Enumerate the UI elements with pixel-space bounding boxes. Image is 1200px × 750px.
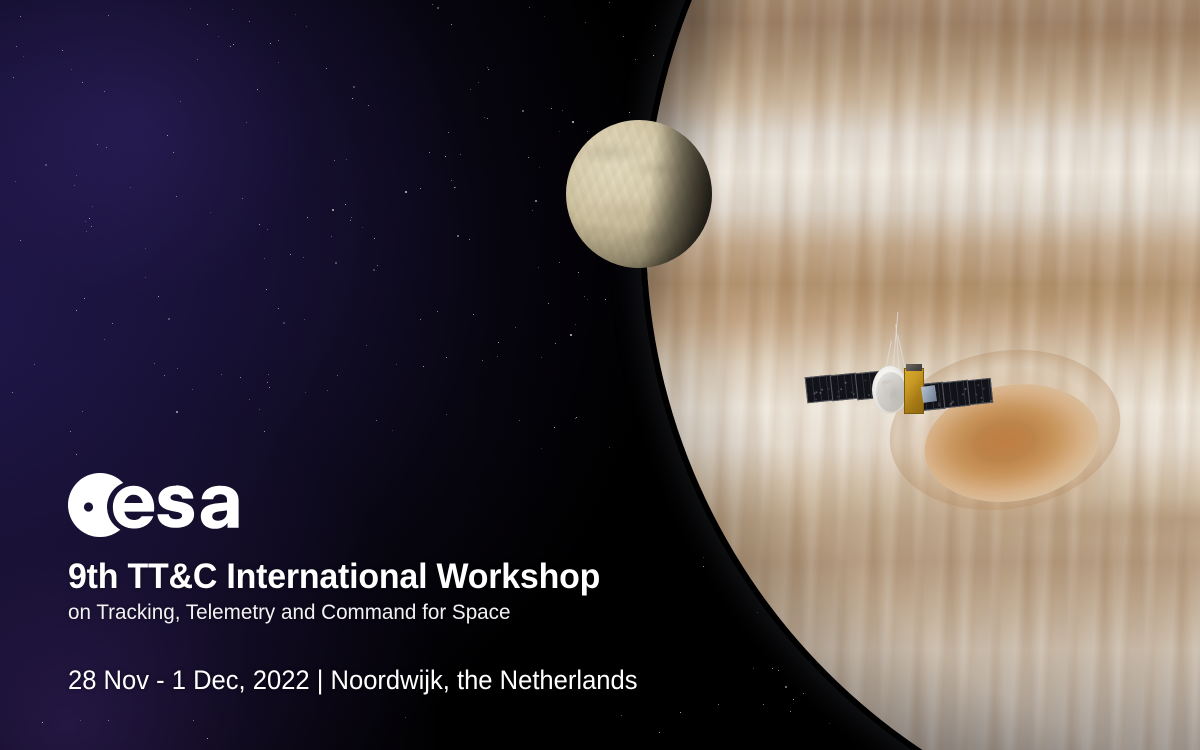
star (218, 36, 219, 37)
star (482, 360, 483, 361)
star (76, 454, 77, 455)
star (176, 196, 177, 197)
star (541, 448, 542, 449)
solar-cell-speck (821, 388, 823, 390)
star (423, 366, 424, 367)
star (515, 327, 516, 328)
star (71, 69, 72, 70)
star (535, 200, 537, 202)
star (555, 343, 556, 344)
event-poster: 9th TT&C International Workshop on Track… (0, 0, 1200, 750)
solar-cell-speck (837, 396, 839, 398)
star (89, 218, 90, 219)
star (551, 108, 552, 109)
star (366, 345, 367, 346)
star (655, 25, 656, 26)
star (605, 299, 606, 300)
star (304, 319, 305, 320)
star (829, 723, 830, 724)
solar-cell-speck (990, 400, 992, 402)
star (377, 265, 378, 266)
star (269, 387, 270, 388)
star (145, 277, 146, 278)
star (233, 44, 234, 45)
page-subtitle: on Tracking, Telemetry and Command for S… (68, 598, 740, 626)
star (793, 699, 794, 700)
star (562, 110, 563, 111)
solar-panel-left-mid (830, 373, 859, 402)
star (177, 368, 178, 369)
star (470, 89, 471, 90)
spacecraft-bus-top (906, 364, 922, 371)
event-text-block: 9th TT&C International Workshop on Track… (68, 556, 768, 626)
star (180, 101, 181, 102)
star (469, 239, 470, 240)
star (295, 14, 296, 15)
star (221, 374, 222, 375)
star (190, 8, 191, 9)
star (528, 157, 529, 158)
star (446, 414, 447, 415)
star (559, 131, 560, 132)
star (278, 62, 279, 63)
star (270, 43, 271, 44)
star (97, 144, 98, 145)
star (420, 319, 421, 320)
star (522, 110, 524, 112)
juice-spacecraft (806, 310, 992, 438)
solar-cell-speck (819, 392, 821, 394)
star (539, 167, 540, 168)
star (34, 364, 35, 365)
star (283, 322, 285, 324)
antenna-dish-shading (876, 372, 906, 412)
star (130, 187, 131, 188)
star (498, 342, 499, 343)
star (249, 21, 250, 22)
star (529, 7, 530, 8)
star (80, 720, 81, 721)
star (20, 240, 21, 241)
star (346, 159, 347, 160)
star (290, 254, 291, 255)
star (84, 298, 85, 299)
star (396, 364, 397, 365)
star (331, 236, 332, 237)
star (575, 324, 576, 325)
star (352, 98, 353, 99)
star (374, 238, 375, 239)
star (585, 22, 586, 23)
star (432, 4, 433, 5)
star (538, 267, 539, 268)
star (267, 229, 268, 230)
star (753, 668, 754, 669)
star (92, 206, 93, 207)
esa-wordmark (113, 485, 239, 528)
solar-cell-speck (865, 379, 867, 381)
solar-cell-speck (840, 389, 842, 391)
star (91, 226, 92, 227)
star (778, 670, 779, 671)
star (82, 82, 83, 83)
star (373, 269, 375, 271)
star (334, 160, 335, 161)
solar-cell-speck (815, 398, 817, 400)
star (473, 314, 474, 315)
star (242, 198, 243, 199)
star (23, 56, 24, 57)
star (368, 105, 369, 106)
star (104, 91, 105, 92)
star (232, 9, 233, 10)
solar-cell-speck (977, 384, 979, 386)
star (249, 399, 250, 400)
star (82, 411, 83, 412)
star (446, 357, 447, 358)
star (264, 431, 265, 432)
star (445, 156, 446, 157)
star (455, 187, 456, 188)
star (587, 299, 588, 300)
star (13, 77, 14, 78)
star (376, 420, 377, 421)
star (575, 418, 576, 419)
solar-cell-speck (938, 404, 940, 406)
solar-cell-speck (868, 394, 870, 396)
star (772, 668, 773, 669)
star (405, 717, 406, 718)
star (246, 122, 247, 123)
star (85, 221, 86, 222)
star (192, 389, 193, 390)
star (12, 392, 13, 393)
star (544, 16, 545, 17)
star (659, 732, 660, 733)
star (158, 296, 159, 297)
star (621, 715, 622, 716)
star (609, 447, 610, 448)
star (451, 180, 452, 181)
star (803, 693, 804, 694)
star (405, 191, 407, 193)
star (108, 15, 109, 16)
star (532, 210, 533, 211)
star (541, 357, 542, 358)
star (327, 390, 328, 391)
page-title: 9th TT&C International Workshop (68, 556, 737, 596)
solar-cell-speck (980, 397, 982, 399)
solar-cell-speck (851, 391, 853, 393)
solar-panel-right-outer (967, 378, 993, 405)
star (278, 308, 279, 309)
star (266, 289, 267, 290)
star (230, 46, 231, 47)
star (576, 417, 577, 418)
solar-panel-right-mid (942, 380, 971, 409)
star (345, 204, 346, 205)
star (164, 375, 165, 376)
star (653, 55, 654, 56)
star (487, 67, 488, 68)
star (351, 217, 352, 218)
star (429, 152, 430, 153)
star (176, 411, 178, 413)
star (45, 164, 47, 166)
star (335, 262, 337, 264)
star (437, 7, 439, 9)
star (173, 152, 174, 153)
star (108, 720, 109, 721)
solar-cell-speck (981, 400, 983, 402)
star (70, 431, 71, 432)
star (487, 118, 488, 119)
star (268, 374, 269, 375)
star (437, 311, 438, 312)
star (278, 40, 279, 41)
star (519, 420, 520, 421)
star (306, 26, 307, 27)
star (42, 722, 43, 723)
star (584, 296, 585, 297)
esa-logo (68, 471, 268, 539)
solar-cell-speck (828, 388, 830, 390)
solar-cell-speck (813, 393, 815, 395)
star (680, 712, 681, 713)
moon-terminator (566, 120, 712, 268)
star (197, 59, 198, 60)
star (790, 711, 791, 712)
star (559, 262, 560, 263)
star (353, 86, 355, 88)
star (76, 310, 77, 311)
solar-cell-speck (853, 393, 855, 395)
star (145, 248, 146, 249)
star (210, 212, 211, 213)
solar-cell-speck (952, 400, 954, 402)
solar-cell-speck (975, 393, 977, 395)
star (303, 257, 304, 258)
star (240, 377, 241, 378)
star (785, 686, 787, 688)
star (62, 50, 63, 51)
star (420, 188, 421, 189)
star (106, 147, 107, 148)
star (259, 409, 260, 410)
star (207, 738, 208, 739)
star (497, 356, 498, 357)
solar-cell-speck (845, 382, 847, 384)
star (326, 68, 327, 69)
star (167, 135, 168, 136)
star (350, 220, 351, 221)
star (20, 16, 21, 17)
star (337, 375, 338, 376)
solar-cell-speck (815, 391, 817, 393)
star (193, 720, 194, 721)
star (305, 392, 306, 393)
star (460, 154, 461, 155)
star (448, 132, 449, 133)
star (718, 704, 719, 705)
star (578, 272, 579, 273)
star (392, 430, 393, 431)
star (362, 227, 363, 228)
star (104, 339, 105, 340)
solar-cell-speck (962, 394, 964, 396)
star (332, 209, 334, 211)
star (635, 59, 636, 60)
star (168, 318, 170, 320)
star (457, 235, 459, 237)
star (629, 112, 630, 113)
star (307, 217, 308, 218)
star (154, 363, 155, 364)
solar-panel-left-outer (805, 375, 834, 404)
star (488, 69, 489, 70)
solar-cell-speck (982, 387, 984, 389)
star (609, 2, 610, 3)
star (86, 231, 87, 232)
star (554, 427, 555, 428)
star (264, 258, 265, 259)
star (76, 175, 77, 176)
star (451, 24, 452, 25)
star (15, 181, 16, 182)
star (548, 303, 549, 304)
star (484, 117, 485, 118)
star (112, 323, 113, 324)
star (267, 382, 268, 383)
star (207, 24, 208, 25)
star (763, 704, 764, 705)
spacecraft-radiator (921, 385, 937, 403)
star (570, 334, 572, 336)
star (259, 224, 260, 225)
star (257, 89, 258, 90)
event-date-location: 28 Nov - 1 Dec, 2022 | Noordwijk, the Ne… (68, 663, 638, 697)
icy-moon (566, 120, 712, 268)
star (16, 46, 17, 47)
star (478, 82, 479, 83)
star (74, 185, 75, 186)
star (623, 36, 624, 37)
solar-cell-speck (837, 390, 839, 392)
